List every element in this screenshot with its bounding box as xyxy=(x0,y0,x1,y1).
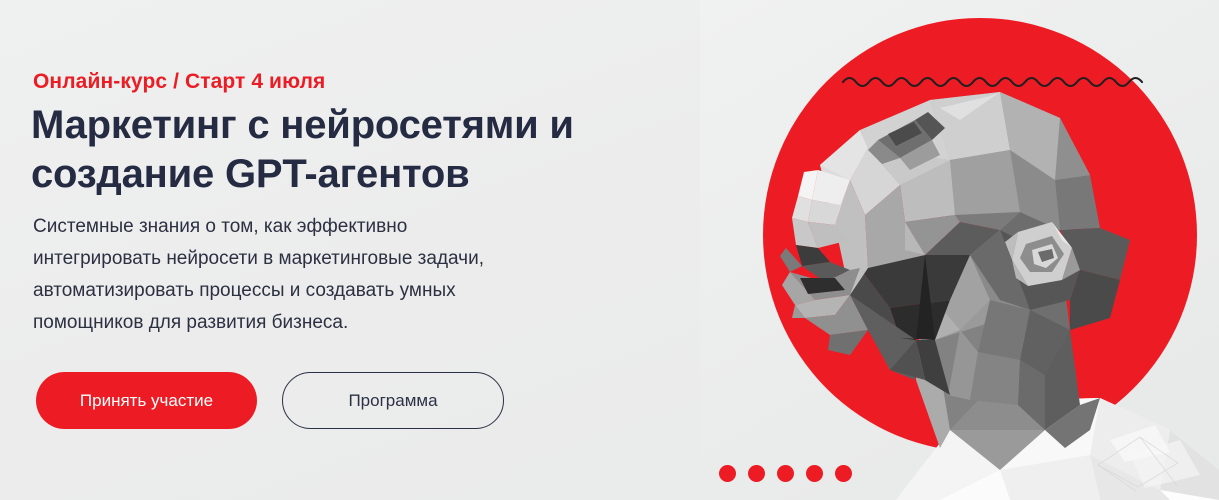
description-line-2: интегрировать нейросети в маркетинговые … xyxy=(33,248,484,269)
carousel-dots[interactable] xyxy=(719,465,852,482)
hero-actions: Принять участие Программа xyxy=(36,372,504,429)
description-line-1: Системные знания о том, как эффективно xyxy=(33,216,407,237)
program-button[interactable]: Программа xyxy=(282,372,504,429)
enroll-button[interactable]: Принять участие xyxy=(36,372,257,429)
course-eyebrow: Онлайн-курс / Старт 4 июля xyxy=(33,70,325,94)
headline-line-2: создание GPT-агентов xyxy=(31,152,470,196)
hero-description: Системные знания о том, как эффективно и… xyxy=(33,211,643,339)
hero-banner: Онлайн-курс / Старт 4 июля Маркетинг с н… xyxy=(0,0,1219,500)
headline-line-1: Маркетинг с нейросетями и xyxy=(31,103,574,147)
description-line-3: автоматизировать процессы и создавать ум… xyxy=(33,280,456,301)
description-line-4: помощников для развития бизнеса. xyxy=(33,312,348,333)
low-poly-head-illustration xyxy=(700,0,1219,500)
carousel-dot[interactable] xyxy=(835,465,852,482)
hero-visual xyxy=(700,0,1219,500)
carousel-dot[interactable] xyxy=(806,465,823,482)
page-title: Маркетинг с нейросетями и создание GPT-а… xyxy=(31,101,691,199)
carousel-dot[interactable] xyxy=(777,465,794,482)
carousel-dot[interactable] xyxy=(748,465,765,482)
carousel-dot[interactable] xyxy=(719,465,736,482)
hero-copy: Онлайн-курс / Старт 4 июля Маркетинг с н… xyxy=(33,0,693,500)
